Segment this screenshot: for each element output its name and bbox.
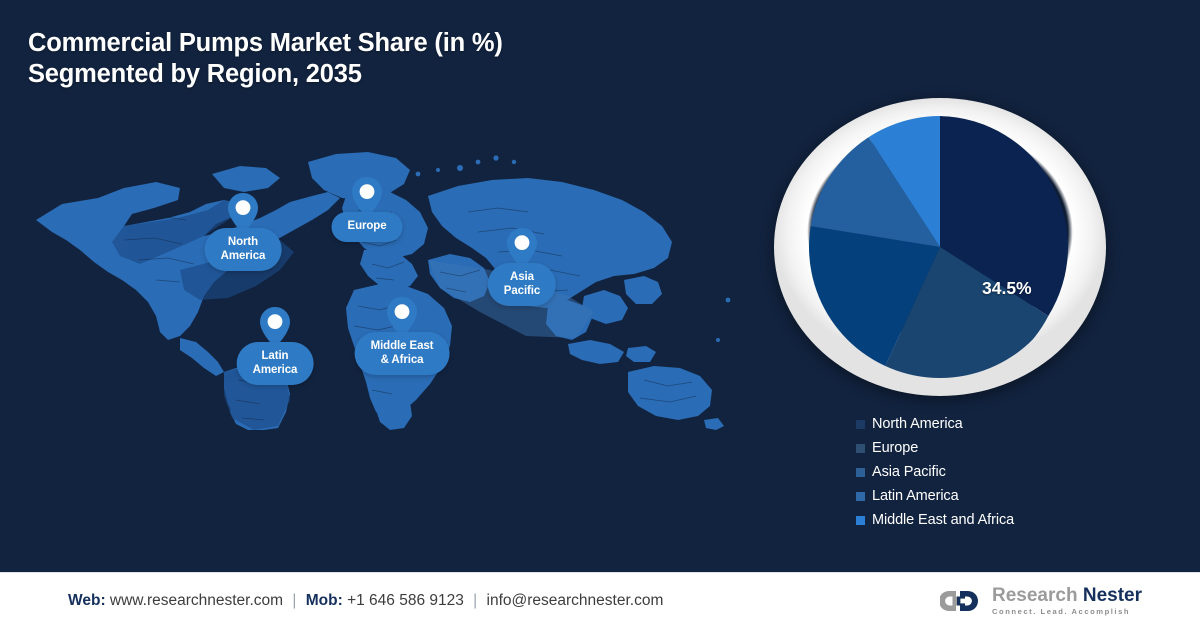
legend-item-latin-america[interactable]: Latin America <box>856 484 1156 508</box>
logo-word-research: Research <box>992 585 1078 606</box>
research-nester-logo[interactable]: Research Nester Connect. Lead. Accomplis… <box>940 586 1142 616</box>
legend-item-europe[interactable]: Europe <box>856 436 1156 460</box>
interlocking-links-icon <box>940 589 984 613</box>
footer-mob-label: Mob: <box>306 592 343 609</box>
pie-slice-group[interactable] <box>809 116 1071 378</box>
legend-swatch-europe <box>856 444 865 453</box>
legend-label-europe: Europe <box>872 440 918 456</box>
legend-label-north-america: North America <box>872 416 963 432</box>
footer-separator-1: | <box>292 592 296 609</box>
footer-mob-value[interactable]: +1 646 586 9123 <box>347 592 464 609</box>
infographic-canvas: Commercial Pumps Market Share (in %) Seg… <box>0 0 1200 628</box>
map-pin-icon <box>260 307 290 347</box>
legend-item-north-america[interactable]: North America <box>856 412 1156 436</box>
map-pin-icon <box>507 228 537 268</box>
world-map: North America Europe Asia Pacific Latin … <box>28 100 748 430</box>
title-line-1: Commercial Pumps Market Share (in %) <box>28 28 688 59</box>
page-title: Commercial Pumps Market Share (in %) Seg… <box>28 28 688 90</box>
logo-text-block: Research Nester Connect. Lead. Accomplis… <box>992 586 1142 616</box>
footer-web-value[interactable]: www.researchnester.com <box>110 592 283 609</box>
legend-label-middle-east-africa: Middle East and Africa <box>872 512 1014 528</box>
logo-wordmark: Research Nester <box>992 586 1142 606</box>
chart-legend: North America Europe Asia Pacific Latin … <box>856 412 1156 532</box>
pie-chart: 34.5% <box>760 92 1120 402</box>
legend-swatch-latin-america <box>856 492 865 501</box>
legend-swatch-middle-east-africa <box>856 516 865 525</box>
legend-item-asia-pacific[interactable]: Asia Pacific <box>856 460 1156 484</box>
footer-bar: Web: www.researchnester.com | Mob: +1 64… <box>0 572 1200 628</box>
map-label-latin-america: Latin America <box>237 342 314 385</box>
logo-tagline: Connect. Lead. Accomplish <box>992 607 1142 616</box>
footer-email[interactable]: info@researchnester.com <box>487 592 664 609</box>
map-label-middle-east-africa: Middle East & Africa <box>355 332 450 375</box>
legend-item-middle-east-africa[interactable]: Middle East and Africa <box>856 508 1156 532</box>
world-map-graphic <box>28 100 748 430</box>
map-label-europe: Europe <box>331 212 402 242</box>
map-pin-icon <box>228 193 258 233</box>
map-pin-icon <box>387 297 417 337</box>
footer-separator-2: | <box>473 592 477 609</box>
map-pin-icon <box>352 177 382 217</box>
footer-contact-info: Web: www.researchnester.com | Mob: +1 64… <box>68 592 663 610</box>
title-line-2: Segmented by Region, 2035 <box>28 59 688 90</box>
pie-slices <box>809 116 1071 378</box>
map-label-asia-pacific: Asia Pacific <box>488 263 556 306</box>
legend-swatch-asia-pacific <box>856 468 865 477</box>
legend-swatch-north-america <box>856 420 865 429</box>
legend-label-latin-america: Latin America <box>872 488 959 504</box>
logo-word-nester: Nester <box>1083 585 1142 606</box>
pie-slice-value-label: 34.5% <box>982 278 1032 299</box>
map-label-north-america: North America <box>205 228 282 271</box>
footer-web-label: Web: <box>68 592 106 609</box>
legend-label-asia-pacific: Asia Pacific <box>872 464 946 480</box>
